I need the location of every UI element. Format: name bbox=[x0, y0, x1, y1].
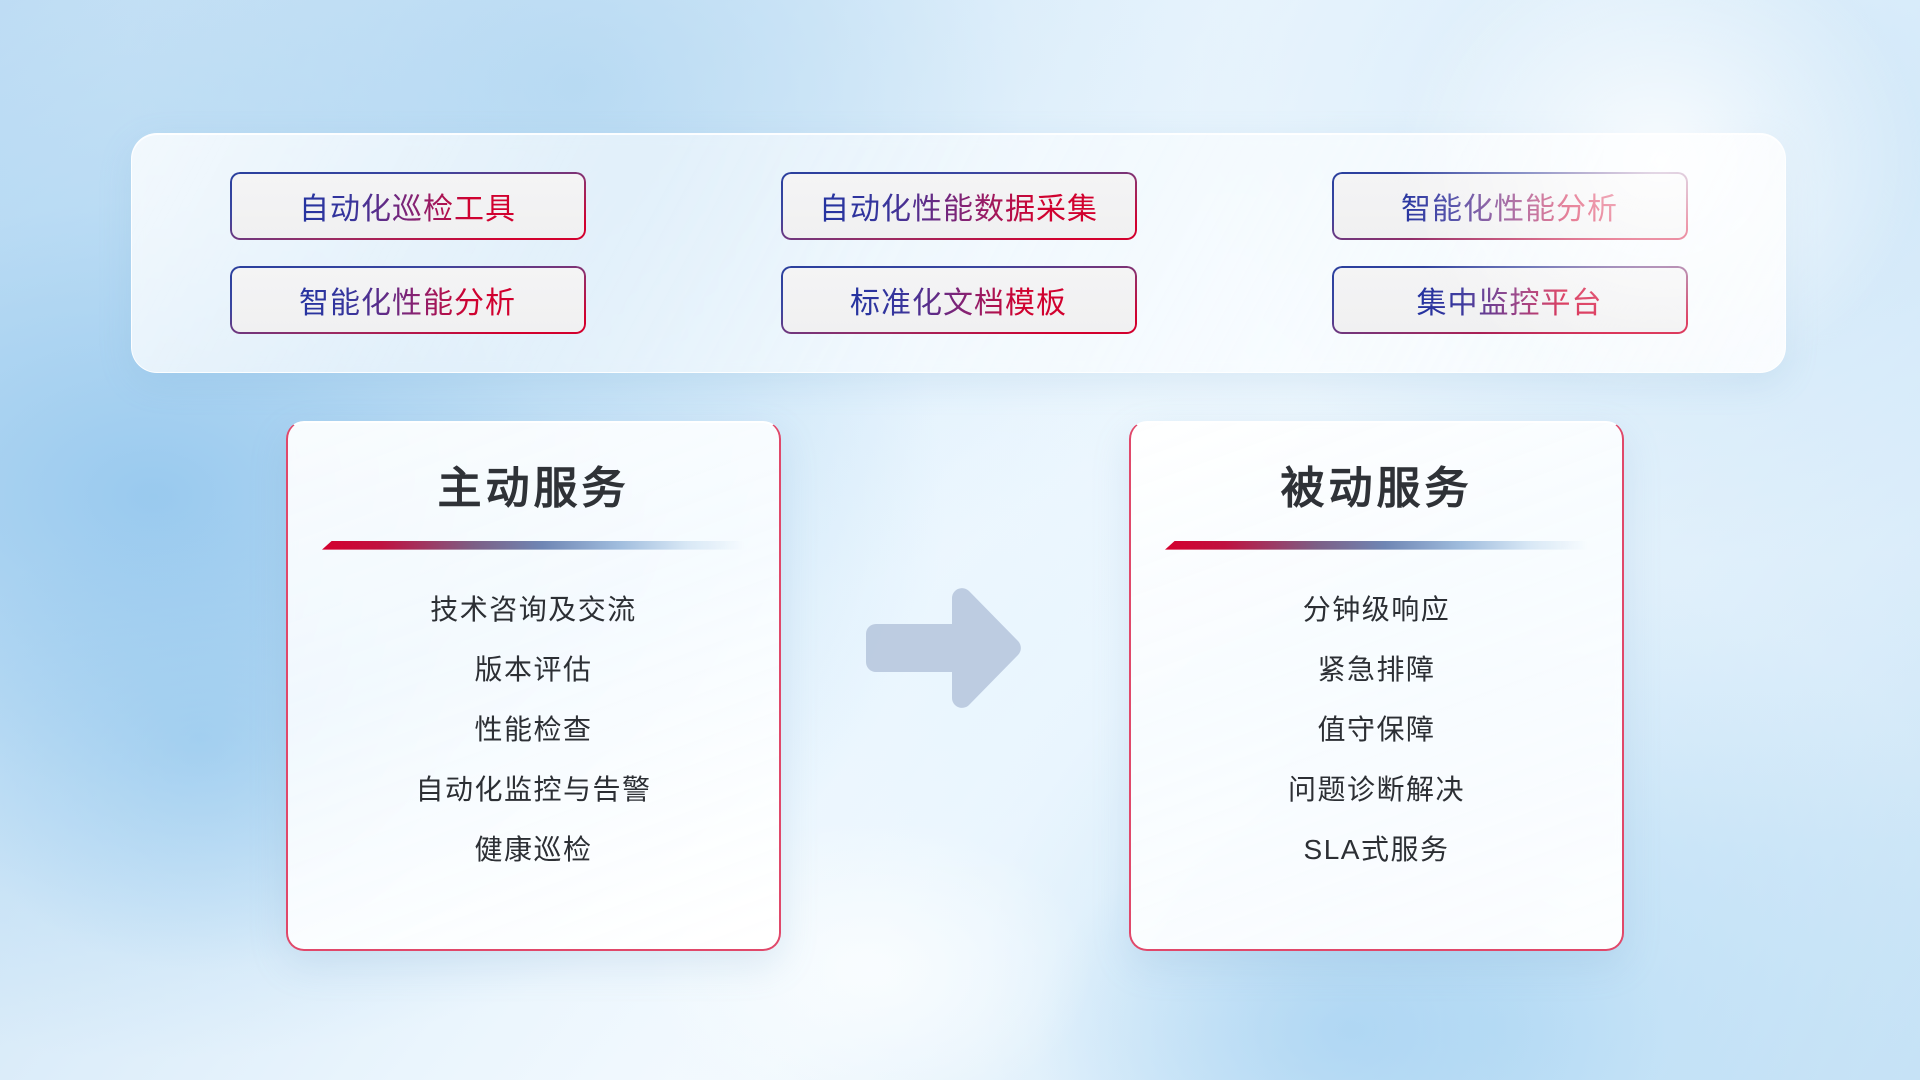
capability-tag-row-2: 智能化性能分析 标准化文档模板 集中监控平台 bbox=[132, 266, 1785, 334]
list-item: 版本评估 bbox=[322, 640, 745, 700]
capability-tag-label: 自动化性能数据采集 bbox=[819, 184, 1098, 228]
list-item: SLA式服务 bbox=[1165, 820, 1588, 880]
list-item: 性能检查 bbox=[322, 700, 745, 760]
card-title-divider bbox=[1165, 541, 1588, 550]
capability-tags-panel: 自动化巡检工具 自动化性能数据采集 智能化性能分析 智能化性能分析 标准化文档模… bbox=[131, 133, 1786, 373]
capability-tag-label: 智能化性能分析 bbox=[1401, 184, 1618, 228]
service-card-proactive: 主动服务 技术咨询及交流 版本评估 性能检查 自动化监控与告警 健康巡检 bbox=[286, 421, 781, 951]
service-card-reactive: 被动服务 分钟级响应 紧急排障 值守保障 问题诊断解决 SLA式服务 bbox=[1129, 421, 1624, 951]
capability-tag-label: 集中监控平台 bbox=[1417, 278, 1603, 322]
capability-tag[interactable]: 集中监控平台 bbox=[1332, 266, 1688, 334]
capability-tag[interactable]: 智能化性能分析 bbox=[1332, 172, 1688, 240]
capability-tag-label: 自动化巡检工具 bbox=[299, 184, 516, 228]
service-item-list: 分钟级响应 紧急排障 值守保障 问题诊断解决 SLA式服务 bbox=[1165, 550, 1588, 881]
list-item: 紧急排障 bbox=[1165, 640, 1588, 700]
service-item-list: 技术咨询及交流 版本评估 性能检查 自动化监控与告警 健康巡检 bbox=[322, 550, 745, 881]
capability-tag-label: 智能化性能分析 bbox=[299, 278, 516, 322]
capability-tag-row-1: 自动化巡检工具 自动化性能数据采集 智能化性能分析 bbox=[132, 172, 1785, 240]
list-item: 值守保障 bbox=[1165, 700, 1588, 760]
capability-tag[interactable]: 自动化巡检工具 bbox=[230, 172, 586, 240]
list-item: 自动化监控与告警 bbox=[322, 760, 745, 820]
card-title: 被动服务 bbox=[1165, 464, 1588, 515]
capability-tag[interactable]: 智能化性能分析 bbox=[230, 266, 586, 334]
capability-tag-label: 标准化文档模板 bbox=[850, 278, 1067, 322]
arrow-right-icon bbox=[862, 588, 1026, 708]
list-item: 问题诊断解决 bbox=[1165, 760, 1588, 820]
list-item: 技术咨询及交流 bbox=[322, 580, 745, 640]
slide-canvas: 自动化巡检工具 自动化性能数据采集 智能化性能分析 智能化性能分析 标准化文档模… bbox=[0, 0, 1920, 1080]
card-title: 主动服务 bbox=[322, 464, 745, 515]
list-item: 健康巡检 bbox=[322, 820, 745, 880]
capability-tag[interactable]: 标准化文档模板 bbox=[781, 266, 1137, 334]
card-title-divider bbox=[322, 541, 745, 550]
list-item: 分钟级响应 bbox=[1165, 580, 1588, 640]
capability-tag[interactable]: 自动化性能数据采集 bbox=[781, 172, 1137, 240]
